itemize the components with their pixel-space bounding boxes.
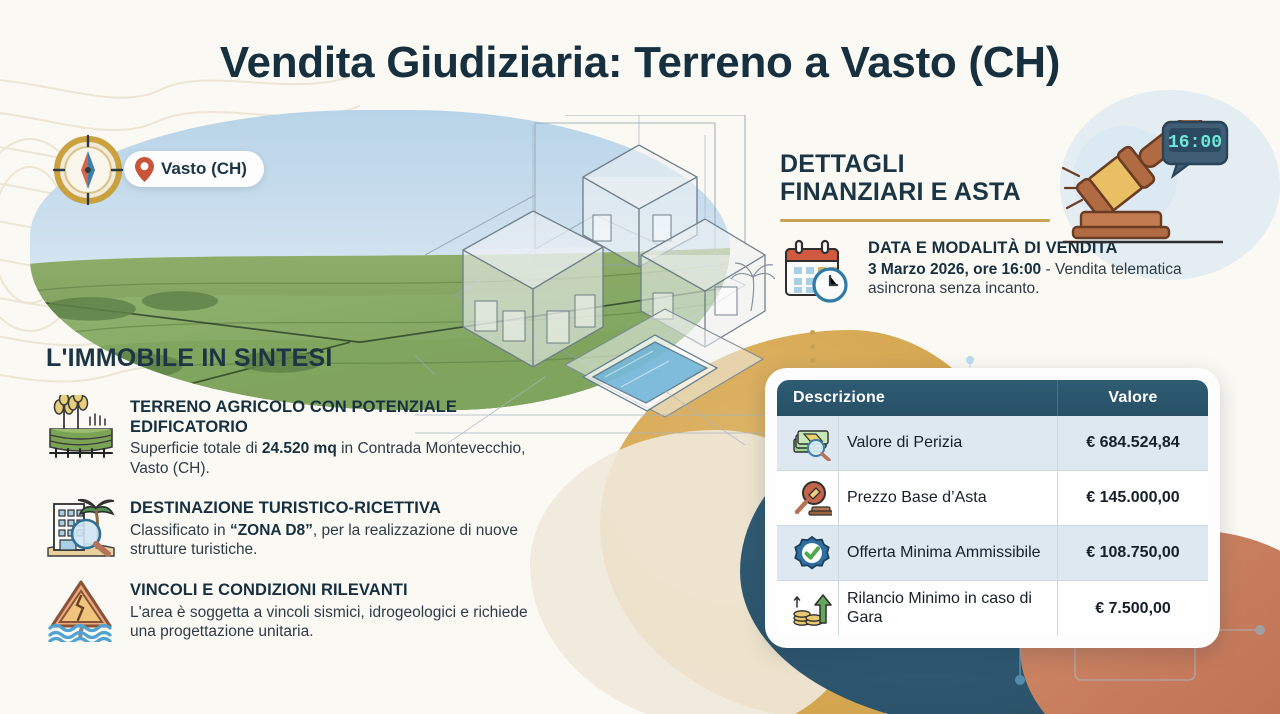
finance-table-body: Valore di Perizia € 684.524,84 Prezzo (777, 416, 1208, 636)
feature-body: TERRENO AGRICOLO CON POTENZIALE EDIFICAT… (130, 395, 546, 478)
calendar-clock-icon (780, 239, 854, 305)
feature-text-before: Classificato in (130, 522, 230, 539)
table-row: Offerta Minima Ammissibile € 108.750,00 (777, 526, 1208, 581)
feature-item: TERRENO AGRICOLO CON POTENZIALE EDIFICAT… (46, 395, 546, 478)
table-row: Prezzo Base d’Asta € 145.000,00 (777, 471, 1208, 526)
gavel-clock-value: 16:00 (1168, 133, 1222, 153)
hazard-flood-icon (46, 578, 116, 642)
row-icon-cell (777, 526, 839, 581)
place-badge-label: Vasto (CH) (161, 159, 247, 179)
sale-info-bold: 3 Marzo 2026, ore 16:00 (868, 261, 1041, 278)
table-row: Rilancio Minimo in caso di Gara € 7.500,… (777, 581, 1208, 636)
map-pin-icon (135, 157, 154, 182)
feature-item: VINCOLI E CONDIZIONI RILEVANTI L'area è … (46, 578, 546, 642)
feature-text-before: Superficie totale di (130, 440, 262, 457)
row-icon-cell (777, 581, 839, 636)
verified-check-icon (792, 535, 832, 571)
finance-table: Descrizione Valore (777, 380, 1208, 636)
hotel-search-icon (46, 496, 116, 560)
row-icon-cell (777, 416, 839, 471)
feature-text: L'area è soggetta a vincoli sismici, idr… (130, 603, 546, 642)
row-description: Valore di Perizia (839, 416, 1058, 471)
feature-heading: VINCOLI E CONDIZIONI RILEVANTI (130, 581, 546, 601)
col-header-descrizione: Descrizione (777, 380, 1058, 416)
feature-heading: DESTINAZIONE TURISTICO-RICETTIVA (130, 499, 546, 519)
cash-magnifier-icon (792, 425, 832, 461)
price-tag-magnifier-icon (792, 480, 832, 516)
sale-info-block: DATA E MODALITÀ DI VENDITA 3 Marzo 2026,… (780, 239, 1250, 305)
finance-table-head: Descrizione Valore (777, 380, 1208, 416)
row-description: Rilancio Minimo in caso di Gara (839, 581, 1058, 636)
feature-text: Superficie totale di 24.520 mq in Contra… (130, 439, 546, 478)
row-description: Offerta Minima Ammissibile (839, 526, 1058, 581)
compass-icon (52, 134, 124, 206)
place-badge[interactable]: Vasto (CH) (124, 151, 264, 187)
row-value: € 108.750,00 (1058, 526, 1208, 581)
left-section-heading: L'IMMOBILE IN SINTESI (46, 344, 546, 373)
feature-text: Classificato in “ZONA D8”, per la realiz… (130, 521, 546, 560)
table-row: Valore di Perizia € 684.524,84 (777, 416, 1208, 471)
row-value: € 145.000,00 (1058, 471, 1208, 526)
coins-up-arrow-icon (792, 591, 832, 627)
row-icon-cell (777, 471, 839, 526)
row-description: Prezzo Base d’Asta (839, 471, 1058, 526)
gold-divider (780, 219, 1050, 222)
sale-info-body: DATA E MODALITÀ DI VENDITA 3 Marzo 2026,… (868, 239, 1250, 299)
feature-heading: TERRENO AGRICOLO CON POTENZIALE EDIFICAT… (130, 398, 546, 437)
feature-text-before: L'area è soggetta a vincoli sismici, idr… (130, 604, 528, 640)
sale-info-text: 3 Marzo 2026, ore 16:00 - Vendita telema… (868, 260, 1250, 299)
feature-text-bold: “ZONA D8” (230, 522, 313, 539)
page-title: Vendita Giudiziaria: Terreno a Vasto (CH… (0, 38, 1280, 88)
left-section: L'IMMOBILE IN SINTESI (46, 344, 546, 660)
infographic-canvas: Vendita Giudiziaria: Terreno a Vasto (CH… (0, 0, 1280, 714)
col-header-valore: Valore (1058, 380, 1208, 416)
row-value: € 684.524,84 (1058, 416, 1208, 471)
feature-item: DESTINAZIONE TURISTICO-RICETTIVA Classif… (46, 496, 546, 560)
finance-table-card: Descrizione Valore (765, 368, 1220, 648)
farm-field-icon (46, 395, 116, 459)
table-header-row: Descrizione Valore (777, 380, 1208, 416)
gavel-icon: 16:00 (1055, 120, 1230, 245)
feature-body: VINCOLI E CONDIZIONI RILEVANTI L'area è … (130, 578, 546, 641)
feature-text-bold: 24.520 mq (262, 440, 337, 457)
row-value: € 7.500,00 (1058, 581, 1208, 636)
feature-body: DESTINAZIONE TURISTICO-RICETTIVA Classif… (130, 496, 546, 559)
